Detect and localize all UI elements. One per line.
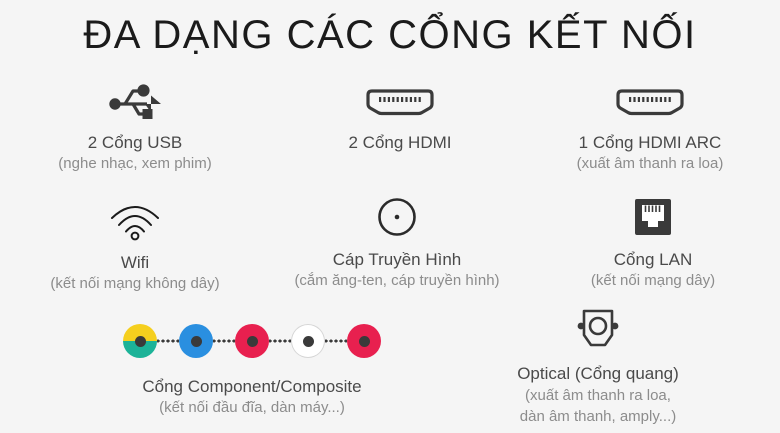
port-label: Optical (Cổng quang)	[448, 363, 748, 385]
coaxial-connector-icon	[262, 195, 532, 239]
port-label: Cổng Component/Composite	[82, 376, 422, 398]
connectivity-infographic: ĐA DẠNG CÁC CỔNG KẾT NỐI 2 Cổng USB (ngh…	[0, 0, 780, 433]
port-label: Cổng LAN	[528, 249, 778, 271]
port-label: Wifi	[10, 252, 260, 274]
connector-dotted-line	[325, 339, 347, 343]
connector-dotted-line	[269, 339, 291, 343]
rca-white-connector	[291, 324, 325, 358]
port-item-wifi: Wifi (kết nối mạng không dây)	[10, 198, 260, 293]
port-label: 2 Cổng USB	[10, 132, 260, 154]
port-sublabel: (kết nối mạng không dây)	[10, 274, 260, 293]
page-title: ĐA DẠNG CÁC CỔNG KẾT NỐI	[0, 12, 780, 58]
port-sublabel: (xuất âm thanh ra loa)	[525, 154, 775, 173]
connector-dotted-line	[213, 339, 235, 343]
rca-red-connector	[235, 324, 269, 358]
connector-dotted-line	[157, 339, 179, 343]
wifi-icon	[10, 198, 260, 242]
port-label: 2 Cổng HDMI	[275, 132, 525, 154]
port-sublabel: (cắm ăng-ten, cáp truyền hình)	[262, 271, 532, 290]
rca-red-connector	[347, 324, 381, 358]
port-sublabel: (nghe nhạc, xem phim)	[10, 154, 260, 173]
port-item-coaxial: Cáp Truyền Hình (cắm ăng-ten, cáp truyền…	[262, 195, 532, 290]
port-item-hdmi-arc: 1 Cổng HDMI ARC (xuất âm thanh ra loa)	[525, 78, 775, 173]
port-item-hdmi: 2 Cổng HDMI	[275, 78, 525, 154]
port-item-usb: 2 Cổng USB (nghe nhạc, xem phim)	[10, 78, 260, 173]
port-sublabel: (kết nối mạng dây)	[528, 271, 778, 290]
port-item-optical: Optical (Cổng quang) (xuất âm thanh ra l…	[448, 305, 748, 427]
rca-connectors-icon	[82, 318, 422, 364]
hdmi-port-icon	[525, 78, 775, 120]
lan-port-icon	[528, 195, 778, 239]
port-sublabel-line2: dàn âm thanh, amply...)	[448, 407, 748, 427]
hdmi-port-icon	[275, 78, 525, 120]
port-sublabel-line1: (xuất âm thanh ra loa,	[448, 386, 748, 406]
port-item-lan: Cổng LAN (kết nối mạng dây)	[528, 195, 778, 290]
port-label: 1 Cổng HDMI ARC	[525, 132, 775, 154]
port-label: Cáp Truyền Hình	[262, 249, 532, 271]
port-item-component-composite: Cổng Component/Composite (kết nối đầu đĩ…	[82, 318, 422, 417]
port-sublabel: (kết nối đầu đĩa, dàn máy...)	[82, 398, 422, 417]
optical-toslink-port-icon	[448, 305, 748, 355]
rca-yellow-green-connector	[123, 324, 157, 358]
rca-blue-connector	[179, 324, 213, 358]
usb-icon	[10, 78, 260, 120]
